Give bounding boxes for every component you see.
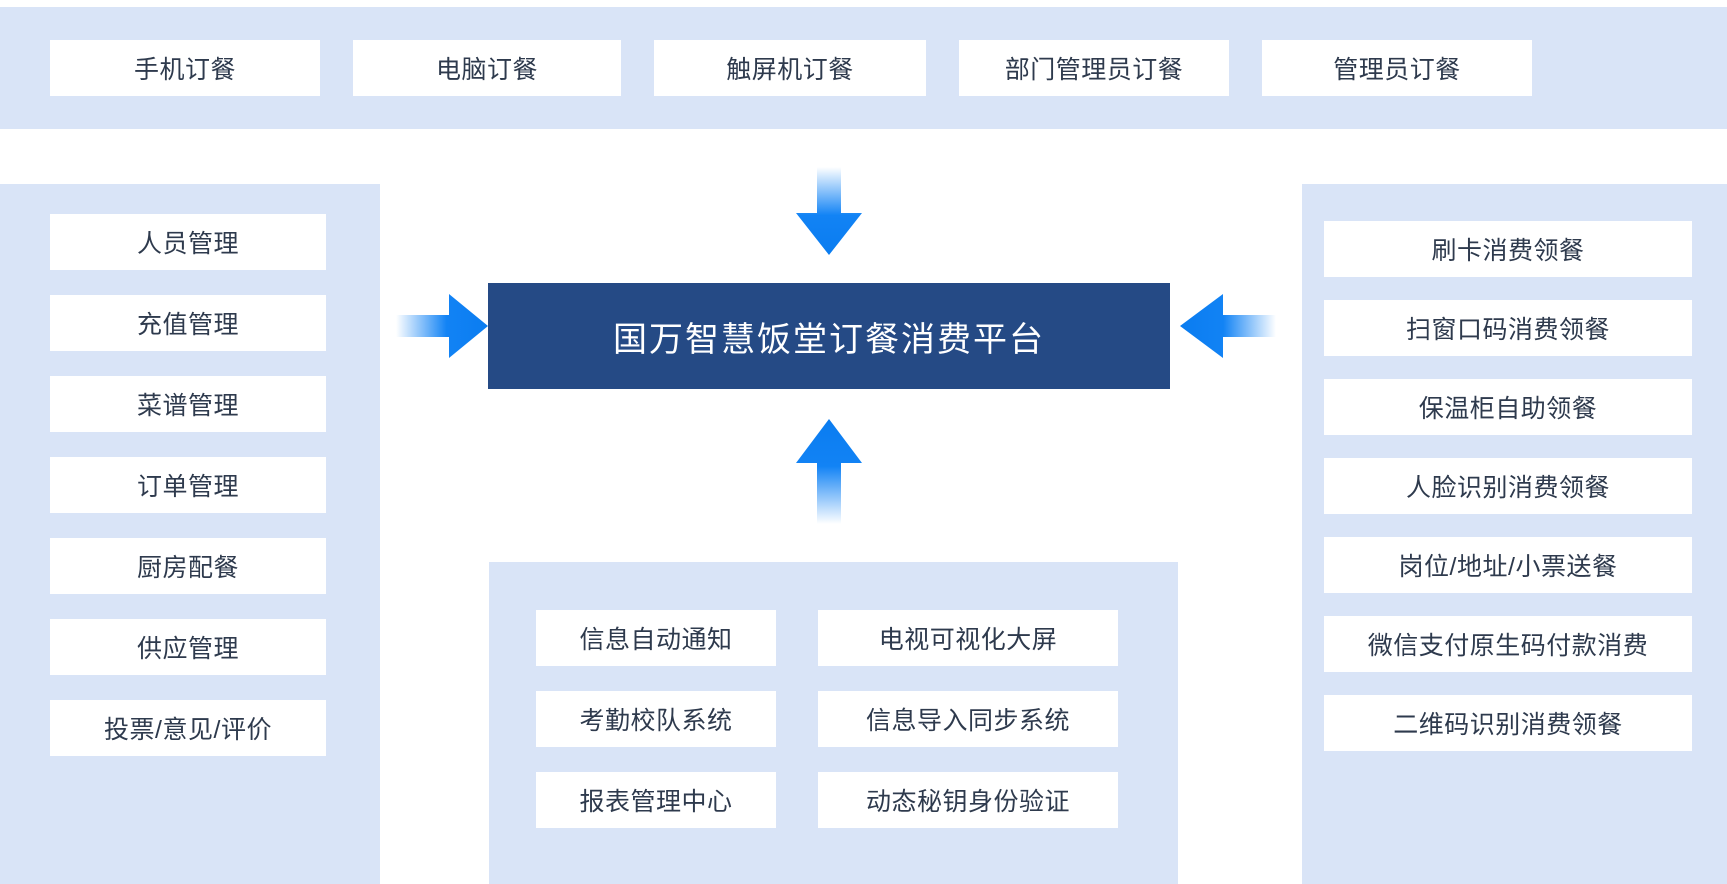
right-panel-item-card-swipe-meal[interactable]: 刷卡消费领餐 (1324, 221, 1692, 277)
arrow-up-icon (793, 419, 865, 524)
platform-title: 国万智慧饭堂订餐消费平台 (613, 312, 1045, 361)
bottom-panel-item-data-import-sync[interactable]: 信息导入同步系统 (818, 691, 1118, 747)
top-bar-item-dept-admin-order[interactable]: 部门管理员订餐 (959, 40, 1229, 96)
top-bar-item-touchscreen-order[interactable]: 触屏机订餐 (654, 40, 926, 96)
right-panel-item-face-recognition-meal[interactable]: 人脸识别消费领餐 (1324, 458, 1692, 514)
left-management-panel: 人员管理 充值管理 菜谱管理 订单管理 厨房配餐 供应管理 投票/意见/评价 (0, 184, 380, 884)
left-panel-item-order-management[interactable]: 订单管理 (50, 457, 326, 513)
arrow-right-pointing-icon (396, 292, 488, 360)
right-panel-item-warming-cabinet-meal[interactable]: 保温柜自助领餐 (1324, 379, 1692, 435)
top-bar-item-mobile-order[interactable]: 手机订餐 (50, 40, 320, 96)
platform-hero-box: 国万智慧饭堂订餐消费平台 (488, 283, 1170, 389)
bottom-panel-item-auto-notification[interactable]: 信息自动通知 (536, 610, 776, 666)
bottom-features-panel: 信息自动通知 考勤校队系统 报表管理中心 电视可视化大屏 信息导入同步系统 动态… (489, 562, 1178, 884)
left-panel-item-recharge-management[interactable]: 充值管理 (50, 295, 326, 351)
left-panel-item-supply-management[interactable]: 供应管理 (50, 619, 326, 675)
bottom-panel-item-dynamic-key-auth[interactable]: 动态秘钥身份验证 (818, 772, 1118, 828)
left-panel-item-staff-management[interactable]: 人员管理 (50, 214, 326, 270)
left-panel-item-vote-feedback-rating[interactable]: 投票/意见/评价 (50, 700, 326, 756)
right-panel-item-window-qr-meal[interactable]: 扫窗口码消费领餐 (1324, 300, 1692, 356)
arrow-left-pointing-icon (1180, 292, 1276, 360)
top-channel-bar: 手机订餐 电脑订餐 触屏机订餐 部门管理员订餐 管理员订餐 (0, 7, 1727, 129)
right-panel-item-wechat-native-code-payment[interactable]: 微信支付原生码付款消费 (1324, 616, 1692, 672)
bottom-panel-item-tv-visualization[interactable]: 电视可视化大屏 (818, 610, 1118, 666)
left-panel-item-kitchen-catering[interactable]: 厨房配餐 (50, 538, 326, 594)
top-bar-item-admin-order[interactable]: 管理员订餐 (1262, 40, 1532, 96)
top-bar-item-pc-order[interactable]: 电脑订餐 (353, 40, 621, 96)
right-panel-item-qr-code-meal[interactable]: 二维码识别消费领餐 (1324, 695, 1692, 751)
left-panel-item-menu-management[interactable]: 菜谱管理 (50, 376, 326, 432)
bottom-panel-item-report-center[interactable]: 报表管理中心 (536, 772, 776, 828)
arrow-down-icon (793, 167, 865, 255)
bottom-panel-item-attendance-system[interactable]: 考勤校队系统 (536, 691, 776, 747)
right-panel-item-post-address-receipt-delivery[interactable]: 岗位/地址/小票送餐 (1324, 537, 1692, 593)
right-consumption-panel: 刷卡消费领餐 扫窗口码消费领餐 保温柜自助领餐 人脸识别消费领餐 岗位/地址/小… (1302, 184, 1727, 884)
